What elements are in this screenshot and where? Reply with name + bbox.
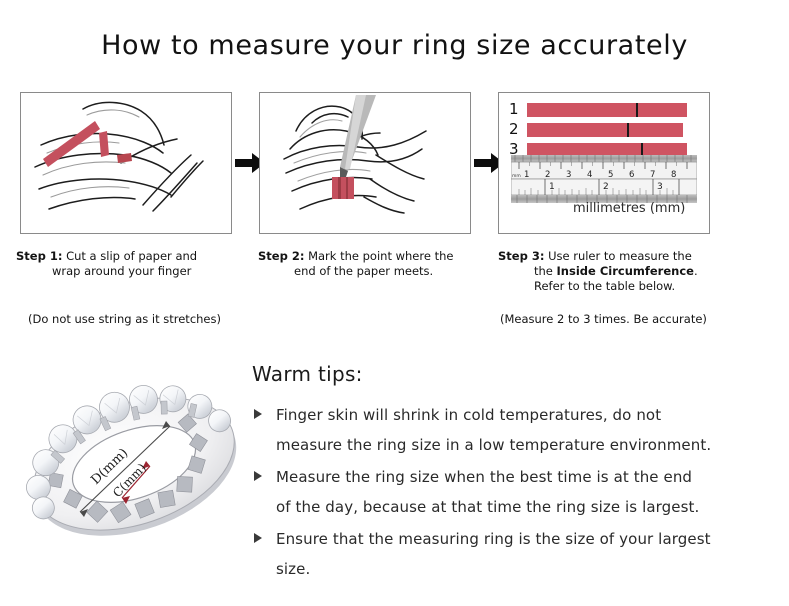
warm-tips-section: Warm tips: Finger skin will shrink in co… (252, 362, 777, 586)
svg-text:6: 6 (629, 170, 634, 180)
warm-tip-3-line2: size. (276, 560, 310, 578)
triangle-bullet-icon (254, 471, 262, 481)
svg-text:5: 5 (608, 170, 613, 180)
warm-tip-3: Ensure that the measuring ring is the si… (252, 524, 777, 584)
step-3-line1: Use ruler to measure the (544, 249, 691, 263)
strip-1-mark (636, 103, 638, 117)
step-1-line1: Cut a slip of paper and (62, 249, 197, 263)
hand-pen-marking-drawing (260, 93, 470, 233)
measured-strip-2: 2 (509, 123, 699, 137)
step-3-illustration-panel: 1 2 3 (498, 92, 710, 234)
warm-tip-1-line1: Finger skin will shrink in cold temperat… (276, 406, 661, 424)
step-1-lead: Step 1: (16, 249, 62, 263)
ring-size-guide-page: How to measure your ring size accurately (0, 0, 789, 606)
svg-text:mm: mm (512, 174, 521, 179)
warm-tips-heading: Warm tips: (252, 362, 777, 386)
step-2-caption: Step 2: Mark the point where the end of … (258, 249, 494, 279)
paper-slip-loose (43, 121, 100, 167)
step-2-line1: Mark the point where the (304, 249, 453, 263)
step-3-inside-circumference: Inside Circumference (557, 264, 694, 278)
paper-band-on-finger (332, 177, 354, 199)
warm-tip-2: Measure the ring size when the best time… (252, 462, 777, 522)
step-1-note: (Do not use string as it stretches) (28, 312, 221, 326)
page-title: How to measure your ring size accurately (0, 30, 789, 61)
step-3-lead: Step 3: (498, 249, 544, 263)
diamond-ring-illustration: D(mm) C(mm) (18, 352, 250, 577)
triangle-bullet-icon (254, 533, 262, 543)
warm-tip-2-line2: of the day, because at that time the rin… (276, 498, 699, 516)
step-2-line2: end of the paper meets. (258, 264, 494, 279)
svg-text:1: 1 (524, 170, 529, 180)
svg-text:2: 2 (545, 170, 550, 180)
svg-text:4: 4 (587, 170, 592, 180)
strip-2-mark (627, 123, 629, 137)
ruler-graphic: 12 34 56 78 mm 123 (511, 155, 697, 207)
step-3-line3: Refer to the table below. (498, 279, 742, 294)
warm-tip-2-line1: Measure the ring size when the best time… (276, 468, 692, 486)
svg-text:3: 3 (566, 170, 571, 180)
paper-slip-wrapped (99, 131, 132, 163)
step-3-line2-post: . (694, 264, 698, 278)
strip-1-label: 1 (509, 100, 519, 118)
step-1-caption: Step 1: Cut a slip of paper and wrap aro… (16, 249, 252, 279)
warm-tip-1: Finger skin will shrink in cold temperat… (252, 400, 777, 460)
step-1-illustration-panel (20, 92, 232, 234)
measured-strip-1: 1 (509, 103, 699, 117)
hand-paper-slip-drawing (21, 93, 231, 233)
step-3-line2: the Inside Circumference. (498, 264, 742, 279)
strip-2-label: 2 (509, 120, 519, 138)
step-2-lead: Step 2: (258, 249, 304, 263)
step-3-note: (Measure 2 to 3 times. Be accurate) (500, 312, 707, 326)
svg-text:8: 8 (671, 170, 676, 180)
step-3-caption: Step 3: Use ruler to measure the the Ins… (498, 249, 742, 294)
step-3-line2-pre: the (534, 264, 557, 278)
svg-text:7: 7 (650, 170, 655, 180)
warm-tip-3-line1: Ensure that the measuring ring is the si… (276, 530, 711, 548)
warm-tip-1-line2: measure the ring size in a low temperatu… (276, 436, 711, 454)
step-2-illustration-panel (259, 92, 471, 234)
step-1-line2: wrap around your finger (16, 264, 252, 279)
ruler-unit-label: millimetres (mm) (573, 201, 685, 216)
triangle-bullet-icon (254, 409, 262, 419)
